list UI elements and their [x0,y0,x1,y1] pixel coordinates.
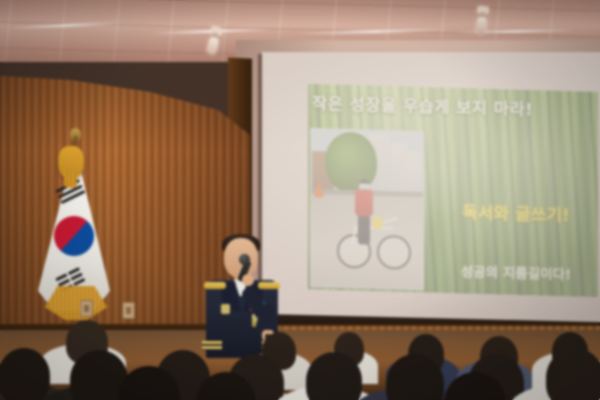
projection-washout [308,84,598,297]
projected-slide: 작은 성장을 우습게 보지 마라! [308,84,598,297]
seated-audience [0,290,600,400]
projection-screen: 작은 성장을 우습게 보지 마라! [262,52,600,326]
flag-tassel [58,146,84,180]
gold-epaulette [204,282,226,289]
auditorium-photo: 작은 성장을 우습게 보지 마라! [0,0,600,400]
gold-epaulette [258,282,280,289]
